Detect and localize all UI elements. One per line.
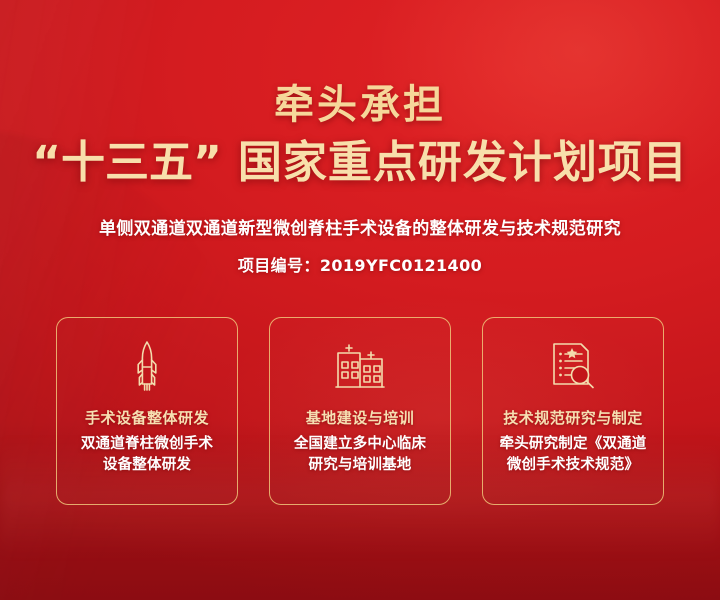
document-search-icon [549,340,597,392]
poster-root: 牵头承担 “十三五”国家重点研发计划项目 单侧双通道双通道新型微创脊柱手术设备的… [0,0,720,600]
feature-card-body-line: 全国建立多中心临床 [294,434,426,455]
feature-card-title: 技术规范研究与制定 [503,408,643,428]
feature-card[interactable]: 技术规范研究与制定 牵头研究制定《双通道 微创手术技术规范》 [482,317,664,505]
feature-card-list: 手术设备整体研发 双通道脊柱微创手术 设备整体研发 [56,317,664,505]
project-subtitle: 单侧双通道双通道新型微创脊柱手术设备的整体研发与技术规范研究 [0,216,720,242]
feature-card[interactable]: 基地建设与培训 全国建立多中心临床 研究与培训基地 [269,317,451,505]
feature-card[interactable]: 手术设备整体研发 双通道脊柱微创手术 设备整体研发 [56,317,238,505]
feature-card-title: 手术设备整体研发 [85,408,209,428]
feature-card-body-line: 双通道脊柱微创手术 [81,434,213,455]
feature-card-body-line: 牵头研究制定《双通道 [500,434,647,455]
feature-card-body-line: 设备整体研发 [81,455,213,476]
feature-card-body: 全国建立多中心临床 研究与培训基地 [286,434,434,476]
feature-card-body: 牵头研究制定《双通道 微创手术技术规范》 [492,434,655,476]
feature-card-body-line: 研究与培训基地 [294,455,426,476]
feature-card-title: 基地建设与培训 [306,408,415,428]
feature-card-body: 双通道脊柱微创手术 设备整体研发 [73,434,221,476]
page-title-secondary: “十三五”国家重点研发计划项目 [0,136,720,190]
feature-card-body-line: 微创手术技术规范》 [500,455,647,476]
headline-block: 牵头承担 “十三五”国家重点研发计划项目 单侧双通道双通道新型微创脊柱手术设备的… [0,0,720,278]
project-number: 项目编号：2019YFC0121400 [0,254,720,278]
title-main-term: 国家重点研发计划项目 [238,137,688,188]
rocket-icon [130,340,164,392]
page-title-primary: 牵头承担 [0,82,720,128]
hospital-building-icon [335,340,385,392]
title-quoted-term: “十三五” [32,137,222,188]
